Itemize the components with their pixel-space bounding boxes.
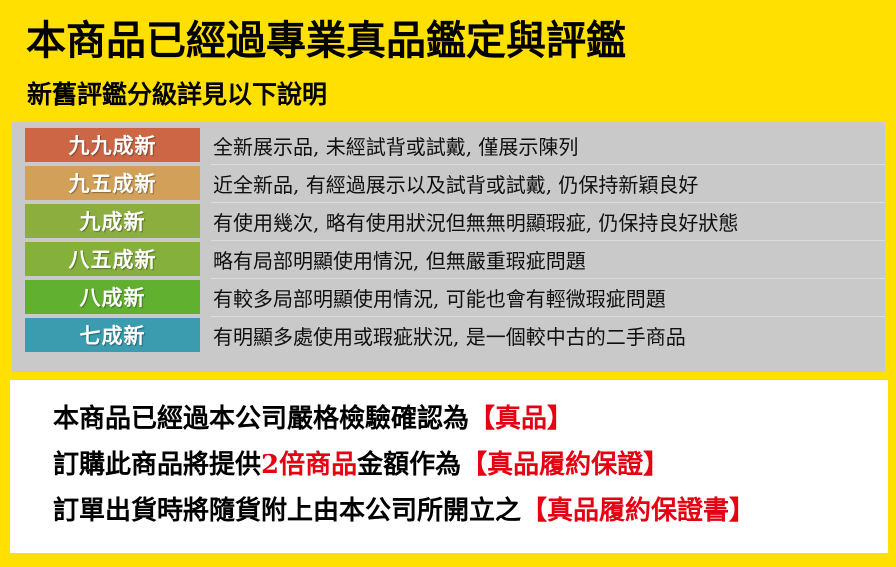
notice-line-1-text: 本商品已經過本公司嚴格檢驗確認為 (53, 404, 469, 434)
grade-row-spacer (200, 202, 211, 240)
notice-line-3-text: 訂單出貨時將隨貨附上由本公司所開立之 (53, 496, 521, 526)
grade-badge: 九九成新 (25, 128, 200, 162)
notice-line-2-text-a: 訂購此商品將提供 (53, 450, 261, 480)
grade-description: 有明顯多處使用或瑕疵狀況, 是一個較中古的二手商品 (211, 316, 885, 354)
notice-line-1-highlight: 【真品】 (469, 404, 573, 434)
grade-row: 九成新有使用幾次, 略有使用狀況但無無明顯瑕疵, 仍保持良好狀態 (25, 202, 885, 240)
grade-description: 全新展示品, 未經試背或試戴, 僅展示陳列 (211, 126, 885, 164)
grade-row: 八五成新略有局部明顯使用情況, 但無嚴重瑕疵問題 (25, 240, 885, 278)
notice-line-2-highlight-a: 2倍商品 (261, 450, 357, 480)
authenticity-notice: 本商品已經過本公司嚴格檢驗確認為【真品】 訂購此商品將提供2倍商品金額作為【真品… (10, 380, 888, 553)
grade-row-spacer (200, 164, 211, 202)
notice-line-2-highlight-b: 【真品履約保證】 (461, 450, 669, 480)
promo-banner: 本商品已經過專業真品鑑定與評鑑 新舊評鑑分級詳見以下說明 九九成新全新展示品, … (0, 0, 896, 567)
notice-line-3-highlight: 【真品履約保證書】 (521, 496, 755, 526)
grade-row-spacer (200, 278, 211, 316)
grade-badge: 九成新 (25, 204, 200, 238)
notice-line-2-text-b: 金額作為 (357, 450, 461, 480)
grade-row: 九五成新近全新品, 有經過展示以及試背或試戴, 仍保持新穎良好 (25, 164, 885, 202)
grade-badge: 八五成新 (25, 242, 200, 276)
notice-line-2: 訂購此商品將提供2倍商品金額作為【真品履約保證】 (53, 442, 878, 488)
notice-line-1: 本商品已經過本公司嚴格檢驗確認為【真品】 (53, 396, 878, 442)
grade-description: 略有局部明顯使用情況, 但無嚴重瑕疵問題 (211, 240, 885, 278)
grade-row: 九九成新全新展示品, 未經試背或試戴, 僅展示陳列 (25, 126, 885, 164)
grade-panel: 九九成新全新展示品, 未經試背或試戴, 僅展示陳列九五成新近全新品, 有經過展示… (12, 122, 885, 372)
grade-badge: 九五成新 (25, 166, 200, 200)
grade-row: 八成新有較多局部明顯使用情況, 可能也會有輕微瑕疵問題 (25, 278, 885, 316)
grade-row-spacer (200, 126, 211, 164)
header: 本商品已經過專業真品鑑定與評鑑 新舊評鑑分級詳見以下說明 (0, 0, 896, 122)
grade-row-spacer (200, 316, 211, 354)
notice-line-3: 訂單出貨時將隨貨附上由本公司所開立之【真品履約保證書】 (53, 488, 878, 534)
grade-row-spacer (200, 240, 211, 278)
grade-description: 近全新品, 有經過展示以及試背或試戴, 仍保持新穎良好 (211, 164, 885, 202)
notice-content: 本商品已經過本公司嚴格檢驗確認為【真品】 訂購此商品將提供2倍商品金額作為【真品… (53, 396, 878, 534)
page-title: 本商品已經過專業真品鑑定與評鑑 (26, 18, 626, 64)
grade-description: 有使用幾次, 略有使用狀況但無無明顯瑕疵, 仍保持良好狀態 (211, 202, 885, 240)
grade-table: 九九成新全新展示品, 未經試背或試戴, 僅展示陳列九五成新近全新品, 有經過展示… (25, 126, 885, 354)
grade-badge: 七成新 (25, 318, 200, 352)
grade-description: 有較多局部明顯使用情況, 可能也會有輕微瑕疵問題 (211, 278, 885, 316)
page-subtitle: 新舊評鑑分級詳見以下說明 (27, 80, 327, 110)
grade-row: 七成新有明顯多處使用或瑕疵狀況, 是一個較中古的二手商品 (25, 316, 885, 354)
grade-badge: 八成新 (25, 280, 200, 314)
